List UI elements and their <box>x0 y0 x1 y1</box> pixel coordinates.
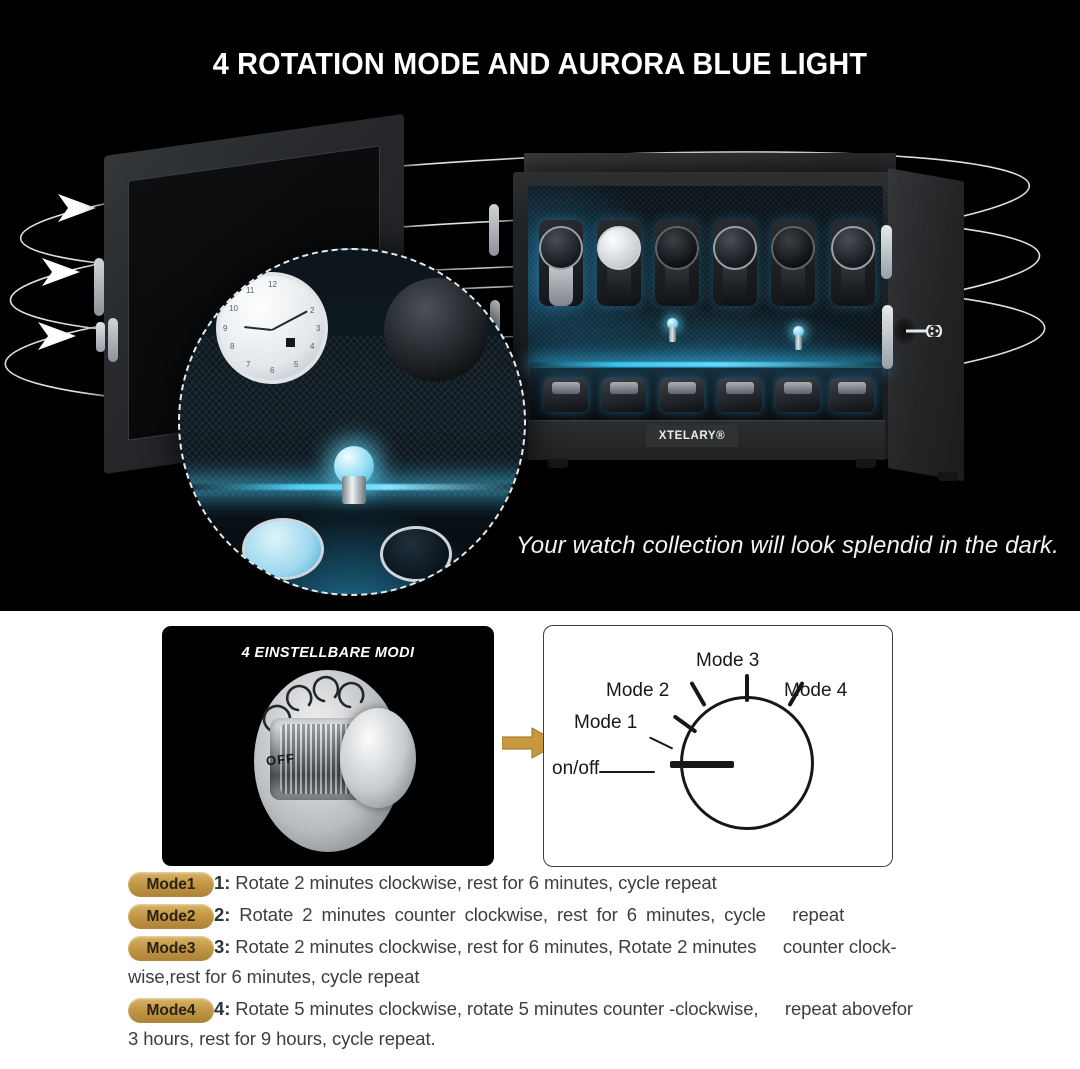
stored-watch <box>602 378 646 412</box>
diagram-tick-mode3 <box>745 674 749 702</box>
cabinet-foot <box>938 472 958 481</box>
diagram-leader-mode1 <box>649 736 673 750</box>
stored-watch <box>544 378 588 412</box>
storage-shelf <box>530 368 883 422</box>
hero-section: 4 ROTATION MODE AND AURORA BLUE LIGHT <box>0 0 1080 611</box>
knob-cap <box>340 708 416 808</box>
mode-text-1: Rotate 2 minutes clockwise, rest for 6 m… <box>235 872 716 893</box>
mode-row: Mode44: Rotate 5 minutes clockwise, rota… <box>128 994 918 1054</box>
diagram-tick-mode2 <box>689 681 706 707</box>
mode-number-1: 1: <box>214 872 230 893</box>
side-hinge <box>882 305 893 369</box>
key-icon <box>906 325 942 337</box>
watch-pod <box>765 206 821 310</box>
door-hinge <box>96 322 105 352</box>
stored-watch <box>660 378 704 412</box>
watch-row-top <box>533 206 885 316</box>
mode-text-2-cont: repeat <box>770 904 844 925</box>
knob-photo-panel: OFF 4 EINSTELLBARE MODI <box>162 626 494 866</box>
magnifier-inset: 12 2 3 4 5 6 7 8 9 10 11 <box>178 248 526 596</box>
mode-badge-1: Mode1 <box>128 872 214 897</box>
watch-pod <box>707 206 763 310</box>
mode-text-2: Rotate 2 minutes counter clockwise, rest… <box>239 904 766 925</box>
magnified-watch-face: 12 2 3 4 5 6 7 8 9 10 11 <box>216 272 328 384</box>
chrome-pin <box>664 318 681 344</box>
magnified-watch-dark <box>384 278 488 382</box>
magnified-chrome-pin <box>328 446 380 504</box>
watch-pod <box>649 206 705 310</box>
diagram-label-mode3: Mode 3 <box>696 650 759 672</box>
diagram-label-mode4: Mode 4 <box>784 680 847 702</box>
cabinet-foot <box>856 459 876 468</box>
stored-watch <box>830 378 874 412</box>
mode-number-4: 4: <box>214 998 230 1019</box>
infographic-page: 4 ROTATION MODE AND AURORA BLUE LIGHT <box>0 0 1080 1069</box>
knob-off-label: OFF <box>265 751 295 769</box>
mode-badge-3: Mode3 <box>128 936 214 961</box>
mode-text-4: Rotate 5 minutes clockwise, rotate 5 min… <box>235 998 758 1019</box>
cabinet-foot <box>548 459 568 468</box>
mode-row: Mode11: Rotate 2 minutes clockwise, rest… <box>128 868 918 898</box>
photo-caption: 4 EINSTELLBARE MODI <box>162 645 494 661</box>
magnified-shelf-watch <box>380 526 468 596</box>
brand-logo-text: XTELARY® <box>659 430 726 442</box>
mode-badge-4: Mode4 <box>128 998 214 1023</box>
lower-section: OFF 4 EINSTELLBARE MODI Mode 1 Mode 2 Mo… <box>0 611 1080 1069</box>
magnified-shelf-watch <box>242 518 330 588</box>
page-title: 4 ROTATION MODE AND AURORA BLUE LIGHT <box>38 46 1042 82</box>
brand-logo: XTELARY® <box>646 425 738 447</box>
knob-diagram: Mode 1 Mode 2 Mode 3 Mode 4 on/off <box>543 625 893 867</box>
chrome-pin <box>790 326 807 352</box>
mode-number-3: 3: <box>214 936 230 957</box>
watch-pod <box>533 206 589 310</box>
door-hinge <box>489 204 499 256</box>
mode-row: Mode33: Rotate 2 minutes clockwise, rest… <box>128 932 918 992</box>
stored-watch <box>776 378 820 412</box>
diagram-leader-onoff <box>599 771 655 773</box>
stored-watch <box>718 378 762 412</box>
diagram-knob-pointer <box>670 761 734 768</box>
door-hinge <box>108 318 118 362</box>
mode-description-list: Mode11: Rotate 2 minutes clockwise, rest… <box>128 868 918 1056</box>
mode-row: Mode22: Rotate 2 minutes counter clockwi… <box>128 900 918 930</box>
mode-badge-2: Mode2 <box>128 904 214 929</box>
watch-pod <box>591 206 647 310</box>
mode-text-3: Rotate 2 minutes clockwise, rest for 6 m… <box>235 936 756 957</box>
hero-tagline: Your watch collection will look splendid… <box>516 532 1059 560</box>
diagram-label-onoff: on/off <box>552 758 599 780</box>
diagram-label-mode2: Mode 2 <box>606 680 669 702</box>
diagram-label-mode1: Mode 1 <box>574 712 637 734</box>
side-hinge <box>881 225 892 279</box>
door-hinge <box>94 258 104 316</box>
mode-number-2: 2: <box>214 904 230 925</box>
led-light-strip <box>530 362 882 367</box>
watch-pod <box>825 206 881 310</box>
